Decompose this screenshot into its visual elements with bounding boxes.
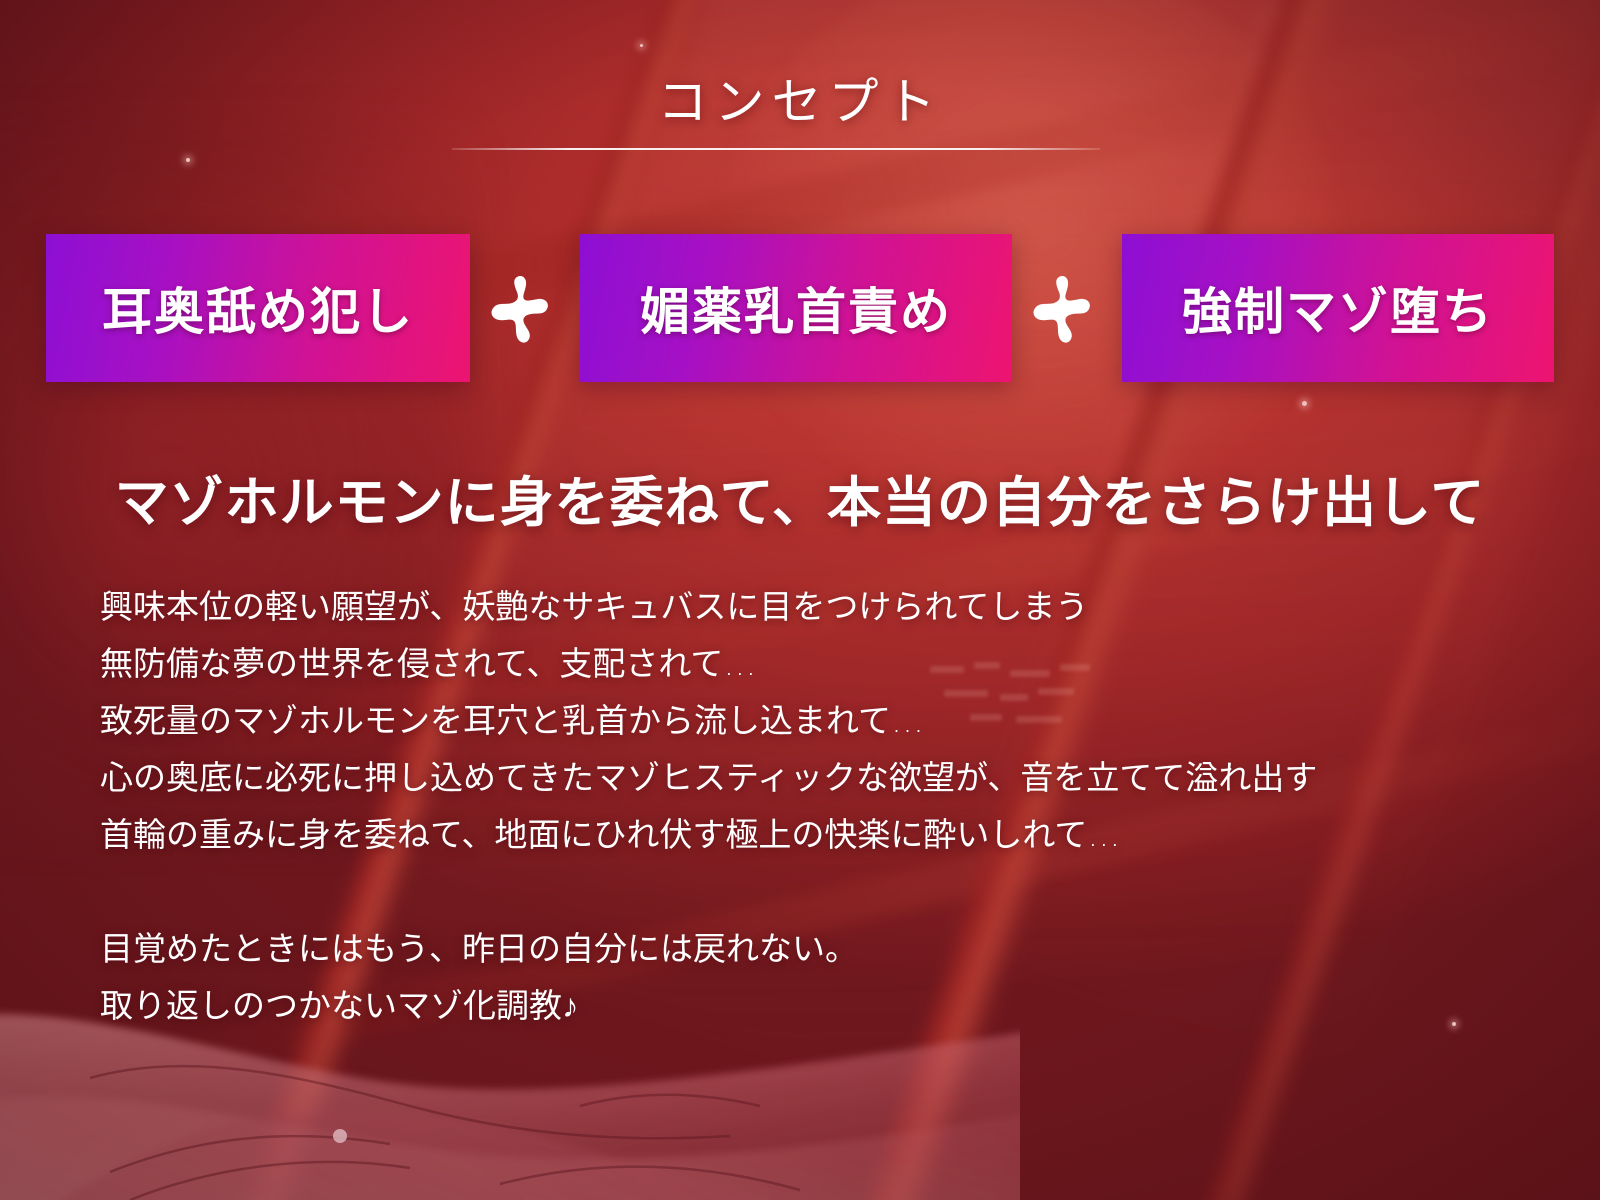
paragraph-spacer [100, 863, 1317, 920]
badge-separator-2 [1012, 269, 1122, 347]
body-line: 目覚めたときにはもう、昨日の自分には戻れない。 [100, 920, 1317, 977]
title-divider [452, 148, 1100, 150]
body-line: 致死量のマゾホルモンを耳穴と乳首から流し込まれて… [100, 692, 1317, 749]
badge-item-1[interactable]: 耳奥舐め犯し [46, 234, 470, 382]
badge-label: 耳奥舐め犯し [102, 272, 414, 344]
lead-heading: マゾホルモンに身を委ねて、本当の自分をさらけ出して [0, 458, 1600, 537]
concept-section: コンセプト 耳奥舐め犯し 媚薬乳首責め 強制マゾ堕ち [0, 0, 1600, 1200]
badge-item-2[interactable]: 媚薬乳首責め [580, 234, 1012, 382]
badge-label: 媚薬乳首責め [640, 272, 952, 344]
content-layer: コンセプト 耳奥舐め犯し 媚薬乳首責め 強制マゾ堕ち [0, 0, 1600, 1200]
page-title: コンセプト [0, 62, 1600, 134]
body-line: 無防備な夢の世界を侵されて、支配されて… [100, 635, 1317, 692]
badge-label: 強制マゾ堕ち [1182, 272, 1494, 344]
body-line: 心の奥底に必死に押し込めてきたマゾヒスティックな欲望が、音を立てて溢れ出す [100, 749, 1317, 806]
body-copy: 興味本位の軽い願望が、妖艶なサキュバスに目をつけられてしまう 無防備な夢の世界を… [100, 578, 1317, 1034]
body-line: 興味本位の軽い願望が、妖艶なサキュバスに目をつけられてしまう [100, 578, 1317, 635]
body-line: 取り返しのつかないマゾ化調教♪ [100, 977, 1317, 1034]
sparkle-asterisk-icon [1028, 269, 1106, 347]
badge-item-3[interactable]: 強制マゾ堕ち [1122, 234, 1554, 382]
badge-row: 耳奥舐め犯し 媚薬乳首責め 強制マゾ堕ち [0, 234, 1600, 382]
body-line: 首輪の重みに身を委ねて、地面にひれ伏す極上の快楽に酔いしれて… [100, 806, 1317, 863]
badge-separator-1 [470, 269, 580, 347]
sparkle-asterisk-icon [486, 269, 564, 347]
